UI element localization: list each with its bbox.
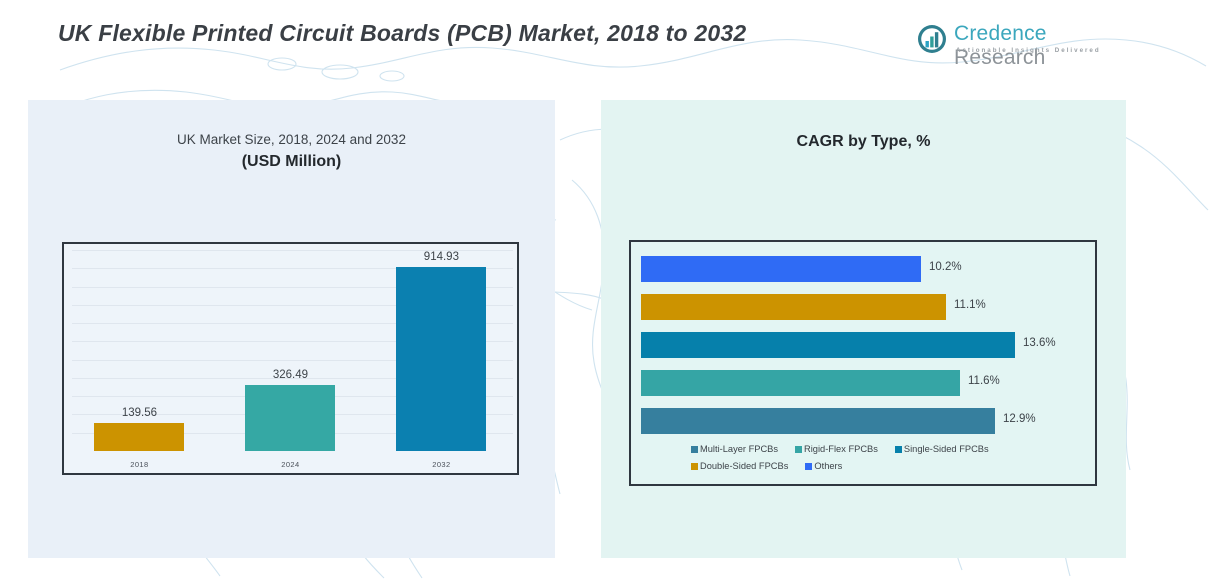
legend-swatch (795, 446, 802, 453)
legend-item-double-sided-fpcbs[interactable]: Double-Sided FPCBs (691, 459, 788, 474)
market-size-panel: UK Market Size, 2018, 2024 and 2032 (USD… (28, 100, 555, 558)
legend-label: Multi-Layer FPCBs (700, 444, 778, 454)
bar-value-label: 10.2% (929, 261, 962, 273)
x-axis-label: 2018 (130, 460, 148, 469)
cagr-chart: 10.2%11.1%13.6%11.6%12.9% Multi-Layer FP… (629, 240, 1097, 486)
market-size-chart: 139.562018326.492024914.932032 (62, 242, 519, 475)
legend-label: Single-Sided FPCBs (904, 444, 989, 454)
bar-single-sided-fpcbs[interactable] (641, 332, 1015, 358)
page-header: UK Flexible Printed Circuit Boards (PCB)… (0, 0, 1217, 100)
legend-line: Double-Sided FPCBsOthers (691, 457, 1091, 474)
legend-label: Double-Sided FPCBs (700, 461, 788, 471)
bar-row: 11.1% (641, 294, 1087, 320)
bar-row: 10.2% (641, 256, 1087, 282)
legend-swatch (895, 446, 902, 453)
page-title: UK Flexible Printed Circuit Boards (PCB)… (58, 18, 758, 48)
bar-double-sided-fpcbs[interactable] (641, 294, 946, 320)
cagr-panel: CAGR by Type, % 10.2%11.1%13.6%11.6%12.9… (601, 100, 1126, 558)
x-axis-label: 2032 (432, 460, 450, 469)
x-axis-label: 2024 (281, 460, 299, 469)
chart-legend: Multi-Layer FPCBsRigid-Flex FPCBsSingle-… (691, 440, 1091, 474)
logo-wordmark: Credence Research (954, 22, 1116, 70)
bar-2024[interactable] (245, 385, 335, 451)
credence-research-logo: Credence Research Actionable Insights De… (916, 20, 1116, 64)
left-chart-title: (USD Million) (28, 153, 555, 171)
right-chart-title: CAGR by Type, % (601, 133, 1126, 151)
legend-swatch (691, 446, 698, 453)
legend-label: Rigid-Flex FPCBs (804, 444, 878, 454)
bar-row: 12.9% (641, 408, 1087, 434)
bar-value-label: 12.9% (1003, 413, 1036, 425)
bar-others[interactable] (641, 256, 921, 282)
bar-value-label: 11.6% (968, 375, 1000, 387)
bar-2018[interactable] (94, 423, 184, 451)
bar-multi-layer-fpcbs[interactable] (641, 408, 995, 434)
bar-rigid-flex-fpcbs[interactable] (641, 370, 960, 396)
bar-value-label: 326.49 (273, 369, 308, 381)
legend-item-multi-layer-fpcbs[interactable]: Multi-Layer FPCBs (691, 442, 778, 457)
bar-row: 13.6% (641, 332, 1087, 358)
bar-value-label: 13.6% (1023, 337, 1056, 349)
bar-chart-circle-icon (916, 23, 948, 55)
bar-value-label: 11.1% (954, 299, 986, 311)
left-chart-subtitle: UK Market Size, 2018, 2024 and 2032 (28, 132, 555, 147)
legend-item-rigid-flex-fpcbs[interactable]: Rigid-Flex FPCBs (795, 442, 878, 457)
bar-2032[interactable] (396, 267, 486, 451)
bar-row: 11.6% (641, 370, 1087, 396)
vertical-bars-group: 139.562018326.492024914.932032 (64, 244, 517, 473)
legend-label: Others (814, 461, 842, 471)
logo-tagline: Actionable Insights Delivered (956, 47, 1101, 54)
bar-value-label: 139.56 (122, 407, 157, 419)
legend-swatch (691, 463, 698, 470)
bar-value-label: 914.93 (424, 251, 459, 263)
legend-item-single-sided-fpcbs[interactable]: Single-Sided FPCBs (895, 442, 989, 457)
legend-line: Multi-Layer FPCBsRigid-Flex FPCBsSingle-… (691, 440, 1091, 457)
legend-item-others[interactable]: Others (805, 459, 842, 474)
legend-swatch (805, 463, 812, 470)
logo-primary-text: Credence (954, 22, 1047, 45)
